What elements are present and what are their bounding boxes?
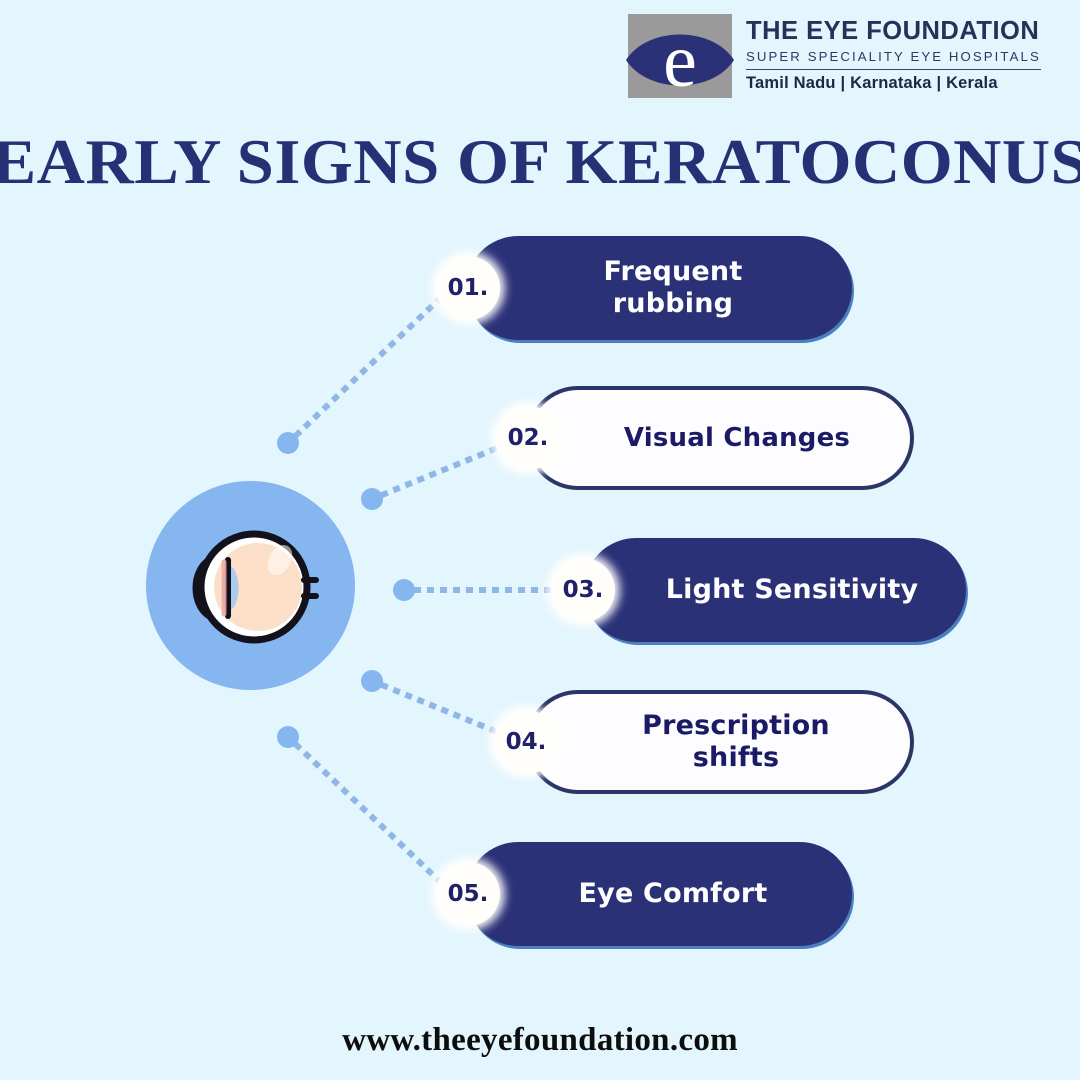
connector-line-5 — [288, 737, 452, 893]
infographic-canvas: e THE EYE FOUNDATION SUPER SPECIALITY EY… — [0, 0, 1080, 1080]
list-item-label: Prescriptionshifts — [530, 710, 910, 774]
list-item[interactable]: Frequentrubbing — [466, 236, 852, 340]
connector-dot-5 — [277, 726, 299, 748]
list-item-label: Frequentrubbing — [466, 256, 852, 320]
list-item-label: Light Sensitivity — [584, 574, 966, 606]
list-item-badge: 03. — [551, 558, 615, 622]
connector-dot-1 — [277, 432, 299, 454]
eye-logo-icon: e — [628, 14, 732, 98]
list-item-label: Visual Changes — [530, 423, 910, 454]
page-title: EARLY SIGNS OF KERATOCONUS — [0, 126, 1080, 199]
eye-anatomy-cross-section-icon — [176, 520, 326, 659]
list-item[interactable]: Light Sensitivity — [584, 538, 966, 642]
list-item-badge: 02. — [496, 406, 560, 470]
website-url[interactable]: www.theeyefoundation.com — [0, 1022, 1080, 1059]
connector-line-1 — [288, 287, 452, 443]
brand-header: e THE EYE FOUNDATION SUPER SPECIALITY EY… — [628, 14, 1041, 98]
list-item-badge: 05. — [436, 862, 500, 926]
list-item[interactable]: Visual Changes — [526, 386, 914, 490]
brand-text-block: THE EYE FOUNDATION SUPER SPECIALITY EYE … — [746, 14, 1041, 93]
svg-text:e: e — [663, 19, 697, 98]
connector-dot-3 — [393, 579, 415, 601]
brand-divider — [746, 69, 1041, 70]
brand-states: Tamil Nadu | Karnataka | Kerala — [746, 74, 1041, 93]
list-item[interactable]: Eye Comfort — [466, 842, 852, 946]
list-item-badge: 01. — [436, 256, 500, 320]
list-item-label: Eye Comfort — [466, 878, 852, 910]
brand-name: THE EYE FOUNDATION — [746, 18, 1041, 45]
list-item-badge: 04. — [494, 710, 558, 774]
connector-dot-2 — [361, 488, 383, 510]
connector-dot-4 — [361, 670, 383, 692]
brand-tagline: SUPER SPECIALITY EYE HOSPITALS — [746, 49, 1041, 64]
list-item[interactable]: Prescriptionshifts — [526, 690, 914, 794]
